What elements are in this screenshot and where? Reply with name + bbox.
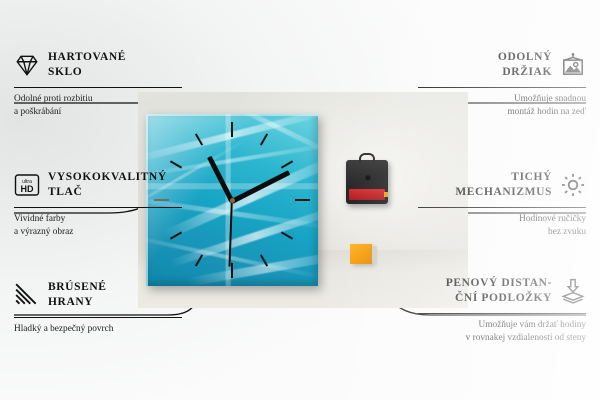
feature-subtitle: Umožňuje vám držať hodiny v rovnakej vzd… bbox=[418, 319, 586, 345]
mechanism-shaft bbox=[364, 174, 372, 182]
feature-title: BRÚSENÉ HRANY bbox=[48, 280, 107, 309]
feature-subtitle: Vividné farby a výrazný obraz bbox=[14, 213, 182, 239]
feature-header: ultra HD VYSOKOKVALITNÝ TLAČ bbox=[14, 168, 182, 202]
feature-title-line2: TLAČ bbox=[48, 186, 82, 198]
feature-tempered-glass: HARTOVANÉ SKLO Odolné proti rozbitiu a p… bbox=[14, 48, 182, 119]
feature-title-line1: ODOLNÝ bbox=[498, 51, 552, 63]
feature-sub-line1: Odolné proti rozbitiu bbox=[14, 94, 93, 104]
feature-title-line1: VYSOKOKVALITNÝ bbox=[48, 171, 167, 183]
feature-subtitle: Odolné proti rozbitiu a poškrábání bbox=[14, 93, 182, 119]
divider bbox=[418, 207, 586, 208]
feature-subtitle: Hladký a bezpečný povrch bbox=[14, 323, 182, 336]
feature-high-quality-print: ultra HD VYSOKOKVALITNÝ TLAČ Vividné far… bbox=[14, 168, 182, 239]
feature-subtitle: Umožňuje snadnou montáž hodin na zeď bbox=[418, 93, 586, 119]
mechanism-battery bbox=[349, 189, 385, 200]
clock-mechanism bbox=[346, 160, 388, 204]
feature-title: PENOVÝ DISTAN- ČNÍ PODLOŽKY bbox=[446, 276, 552, 305]
feature-title-line1: PENOVÝ DISTAN- bbox=[446, 277, 552, 289]
feature-title-line1: BRÚSENÉ bbox=[48, 281, 107, 293]
feature-sub-line1: Vividné farby bbox=[14, 214, 65, 224]
feature-sub-line1: Hodinové ručičky bbox=[519, 214, 586, 224]
feature-title-line2: DRŽIAK bbox=[502, 66, 552, 78]
feature-title-line1: HARTOVANÉ bbox=[48, 51, 126, 63]
feature-title-line2: ČNÍ PODLOŽKY bbox=[455, 292, 552, 304]
feature-title-line1: TICHÝ bbox=[511, 171, 552, 183]
beveled-edges-icon bbox=[14, 282, 40, 308]
svg-text:HD: HD bbox=[21, 184, 34, 194]
feature-title: TICHÝ MECHANIZMUS bbox=[455, 170, 552, 199]
mechanism-hanger bbox=[359, 153, 375, 163]
feature-header: PENOVÝ DISTAN- ČNÍ PODLOŽKY bbox=[418, 274, 586, 308]
feature-title: HARTOVANÉ SKLO bbox=[48, 50, 126, 79]
feature-title: VYSOKOKVALITNÝ TLAČ bbox=[48, 170, 167, 199]
feature-title: ODOLNÝ DRŽIAK bbox=[498, 50, 552, 79]
feature-header: TICHÝ MECHANIZMUS bbox=[418, 168, 586, 202]
feature-header: BRÚSENÉ HRANY bbox=[14, 278, 182, 312]
feature-sub-line2: v rovnakej vzdialenosti od steny bbox=[466, 333, 586, 343]
picture-hanger-icon bbox=[560, 52, 586, 78]
feature-title-line2: HRANY bbox=[48, 296, 93, 308]
feature-sub-line1: Umožňuje vám držať hodiny bbox=[479, 320, 587, 330]
divider bbox=[14, 317, 182, 318]
foam-spacer-pad bbox=[350, 244, 372, 264]
diamond-icon bbox=[14, 52, 40, 78]
feature-beveled-edges: BRÚSENÉ HRANY Hladký a bezpečný povrch bbox=[14, 278, 182, 336]
feature-sub-line1: Hladký a bezpečný povrch bbox=[14, 324, 113, 334]
feature-header: HARTOVANÉ SKLO bbox=[14, 48, 182, 82]
feature-silent-mechanism: TICHÝ MECHANIZMUS Hodinové ručičky bez z… bbox=[418, 168, 586, 239]
divider bbox=[14, 207, 182, 208]
feature-sub-line1: Umožňuje snadnou bbox=[514, 94, 586, 104]
divider bbox=[418, 313, 586, 314]
divider bbox=[14, 87, 182, 88]
feature-title-line2: MECHANIZMUS bbox=[455, 186, 552, 198]
infographic-canvas: HARTOVANÉ SKLO Odolné proti rozbitiu a p… bbox=[0, 0, 600, 400]
feature-foam-spacers: PENOVÝ DISTAN- ČNÍ PODLOŽKY Umožňuje vám… bbox=[418, 274, 586, 345]
feature-sub-line2: bez zvuku bbox=[548, 227, 586, 237]
feature-header: ODOLNÝ DRŽIAK bbox=[418, 48, 586, 82]
ultra-hd-icon: ultra HD bbox=[14, 172, 40, 198]
feature-durable-holder: ODOLNÝ DRŽIAK Umožňuje snadnou montáž ho… bbox=[418, 48, 586, 119]
feature-subtitle: Hodinové ručičky bez zvuku bbox=[418, 213, 586, 239]
feature-sub-line2: a poškrábání bbox=[14, 107, 61, 117]
feature-title-line2: SKLO bbox=[48, 66, 82, 78]
foam-spacer-icon bbox=[560, 278, 586, 304]
feature-sub-line2: montáž hodin na zeď bbox=[507, 107, 586, 117]
gear-icon bbox=[560, 172, 586, 198]
feature-sub-line2: a výrazný obraz bbox=[14, 227, 73, 237]
divider bbox=[418, 87, 586, 88]
